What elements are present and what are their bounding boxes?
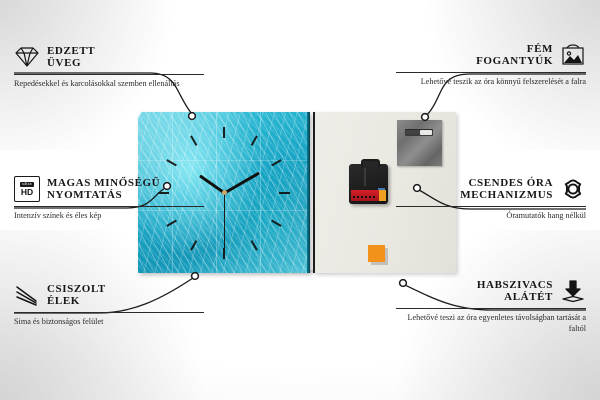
clock-minute-hand — [223, 171, 259, 194]
divider — [396, 308, 586, 309]
feature-polished-edges[interactable]: CSISZOLT ÉLEK Sima és biztonságos felüle… — [14, 282, 204, 328]
clock-tick — [279, 192, 290, 194]
feature-title-2: ÉLEK — [47, 295, 106, 308]
feature-tempered-glass[interactable]: EDZETT ÜVEG Repedésekkel és karcolásokka… — [14, 44, 204, 90]
clock-tick — [166, 159, 177, 166]
clock-tick — [223, 127, 225, 138]
feature-subtitle: Repedésekkel és karcolásokkal szemben el… — [14, 79, 204, 90]
feature-title: MAGAS MINŐSÉGŰ — [47, 177, 160, 190]
clock-second-hand — [224, 193, 225, 249]
divider — [14, 312, 204, 313]
clock-tick — [190, 135, 197, 146]
feature-title: HABSZIVACS — [477, 279, 553, 292]
hanger-slot — [405, 129, 433, 136]
clock-tick — [271, 159, 282, 166]
diamond-icon — [14, 44, 40, 70]
feature-subtitle: Sima és biztonságos felület — [14, 317, 204, 328]
divider — [396, 206, 586, 207]
clock-tick — [251, 240, 258, 251]
feature-high-quality-print[interactable]: ultra HD MAGAS MINŐSÉGŰ NYOMTATÁS Intenz… — [14, 176, 204, 222]
feature-title-2: NYOMTATÁS — [47, 189, 160, 202]
hd-label: HD — [21, 188, 33, 197]
feature-subtitle: Lehetővé teszik az óra könnyű felszerelé… — [396, 77, 586, 88]
feature-title: CSISZOLT — [47, 283, 106, 296]
foam-pad-arrow-icon — [560, 278, 586, 304]
mechanism-tab — [361, 159, 380, 167]
feature-title: CSENDES ÓRA — [460, 177, 553, 190]
infographic-canvas: EDZETT ÜVEG Repedésekkel és karcolásokka… — [0, 0, 600, 400]
clock-center-pin — [222, 190, 227, 195]
mechanism-seam — [364, 168, 366, 186]
feature-title-2: ÜVEG — [47, 57, 95, 70]
glass-edge — [307, 112, 310, 273]
clock-tick — [271, 219, 282, 226]
feature-quiet-mechanism[interactable]: CSENDES ÓRA MECHANIZMUS Óramutatók hang … — [396, 176, 586, 222]
metal-hanger — [397, 120, 442, 166]
ultra-label: ultra — [20, 182, 33, 187]
divider — [396, 72, 586, 73]
picture-hanger-icon — [560, 42, 586, 68]
feature-title: EDZETT — [47, 45, 95, 58]
feature-foam-pad[interactable]: HABSZIVACS ALÁTÉT Lehetővé teszi az óra … — [396, 278, 586, 334]
clock-tick — [251, 135, 258, 146]
feature-subtitle: Intenzív színek és éles kép — [14, 211, 204, 222]
back-panel-edge — [313, 112, 315, 273]
polished-edges-icon — [14, 282, 40, 308]
clock-tick — [223, 248, 225, 259]
divider — [14, 74, 204, 75]
ultra-hd-icon: ultra HD — [14, 176, 40, 202]
feature-subtitle: Lehetővé teszi az óra egyenletes távolsá… — [396, 313, 586, 334]
divider — [14, 206, 204, 207]
clock-mechanism — [349, 164, 388, 204]
mechanism-barcode — [353, 196, 375, 198]
feature-title-2: FOGANTYÚK — [476, 55, 553, 68]
feature-metal-handles[interactable]: FÉM FOGANTYÚK Lehetővé teszik az óra kön… — [396, 42, 586, 88]
feature-title-2: ALÁTÉT — [477, 291, 553, 304]
foam-pad — [368, 245, 385, 262]
feature-title: FÉM — [476, 43, 553, 56]
gear-icon — [560, 176, 586, 202]
clock-tick — [190, 240, 197, 251]
feature-subtitle: Óramutatók hang nélkül — [396, 211, 586, 222]
feature-title-2: MECHANIZMUS — [460, 189, 553, 202]
